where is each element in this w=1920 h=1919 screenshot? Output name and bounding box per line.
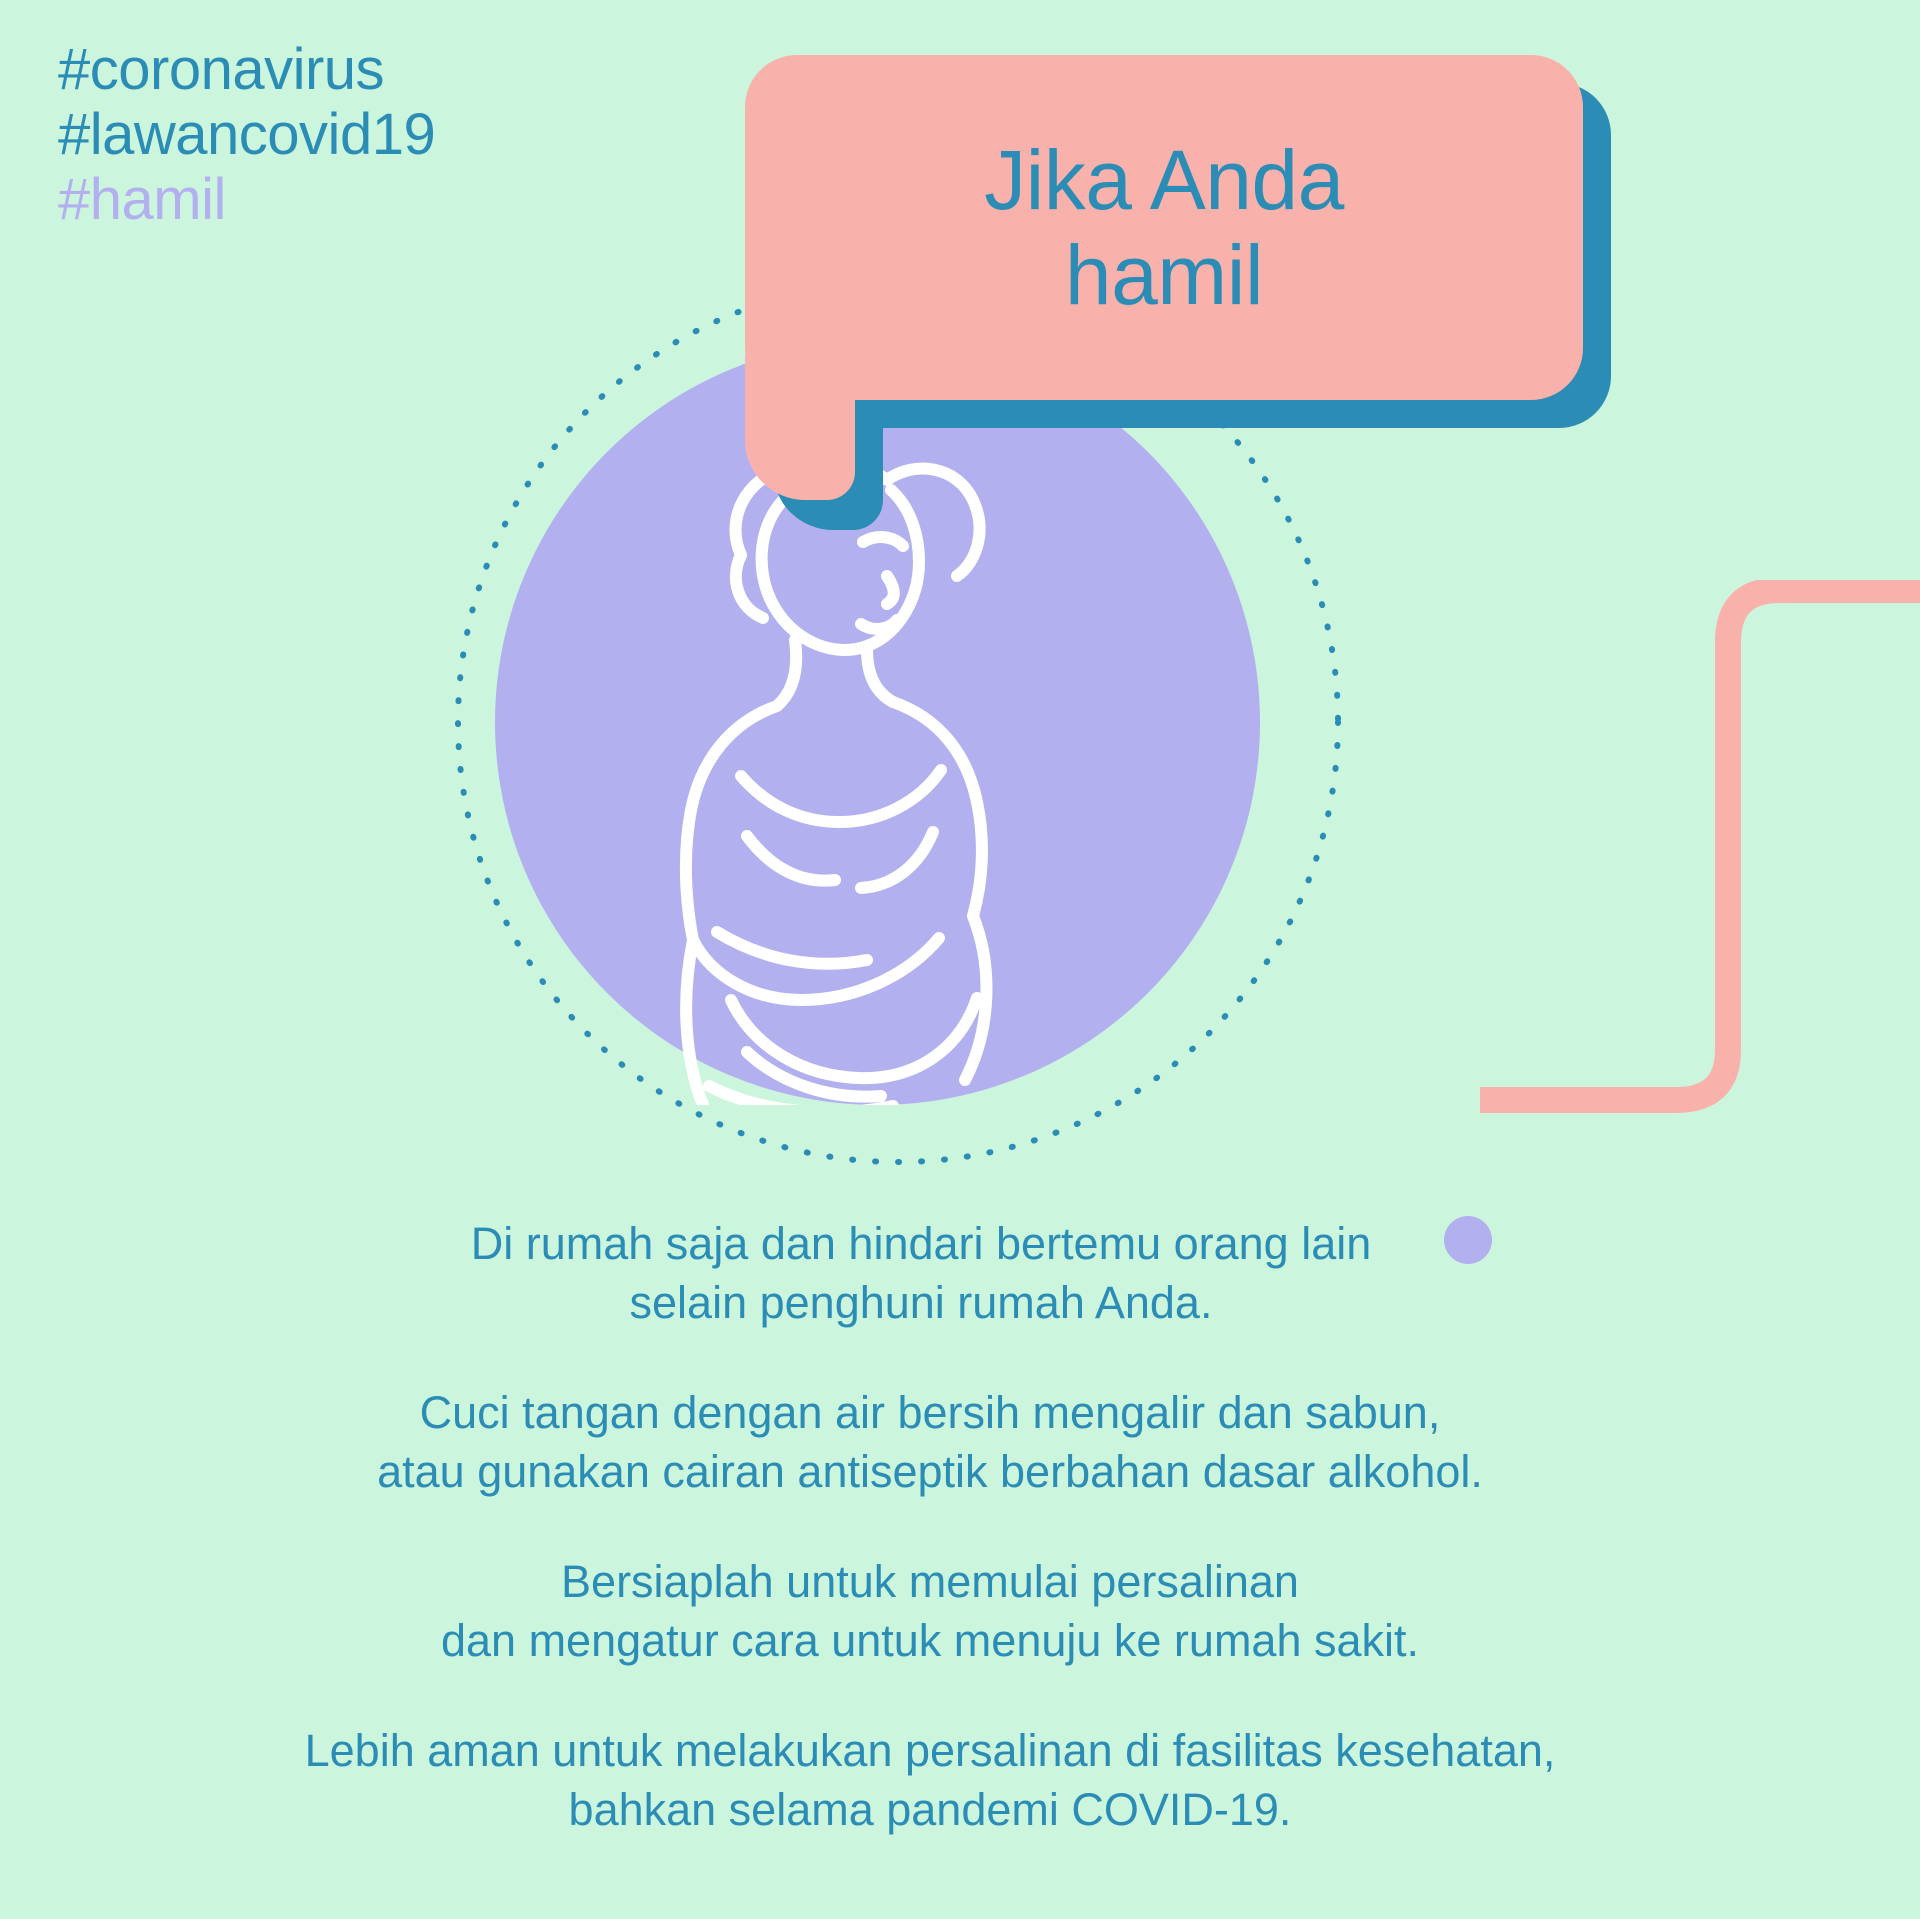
- speech-bubble-text: Jika Anda hamil: [745, 55, 1583, 400]
- tip-item: Bersiaplah untuk memulai persalinan dan …: [60, 1553, 1800, 1670]
- tip-line: Bersiaplah untuk memulai persalinan: [60, 1553, 1800, 1612]
- tip-line: Di rumah saja dan hindari bertemu orang …: [60, 1215, 1782, 1274]
- tip-line: bahkan selama pandemi COVID-19.: [60, 1781, 1800, 1840]
- hashtag-lawancovid19: #lawancovid19: [58, 103, 435, 168]
- pink-bracket-decoration: [1480, 580, 1920, 1220]
- tip-item: Di rumah saja dan hindari bertemu orang …: [60, 1215, 1800, 1332]
- hashtag-coronavirus: #coronavirus: [58, 38, 435, 103]
- speech-bubble: Jika Anda hamil: [745, 55, 1695, 475]
- tip-item: Lebih aman untuk melakukan persalinan di…: [60, 1722, 1800, 1839]
- bubble-line-2: hamil: [1065, 228, 1263, 322]
- tip-item: Cuci tangan dengan air bersih mengalir d…: [60, 1384, 1800, 1501]
- tip-line: dan mengatur cara untuk menuju ke rumah …: [60, 1612, 1800, 1671]
- tips-list: Di rumah saja dan hindari bertemu orang …: [60, 1215, 1800, 1839]
- poster-canvas: #coronavirus #lawancovid19 #hamil: [0, 0, 1920, 1919]
- bubble-line-1: Jika Anda: [984, 133, 1344, 227]
- tip-line: Lebih aman untuk melakukan persalinan di…: [60, 1722, 1800, 1781]
- hashtag-hamil: #hamil: [58, 168, 435, 233]
- hashtag-group: #coronavirus #lawancovid19 #hamil: [58, 38, 435, 233]
- tip-line: Cuci tangan dengan air bersih mengalir d…: [60, 1384, 1800, 1443]
- tip-line: atau gunakan cairan antiseptik berbahan …: [60, 1443, 1800, 1502]
- tip-line: selain penghuni rumah Anda.: [60, 1274, 1782, 1333]
